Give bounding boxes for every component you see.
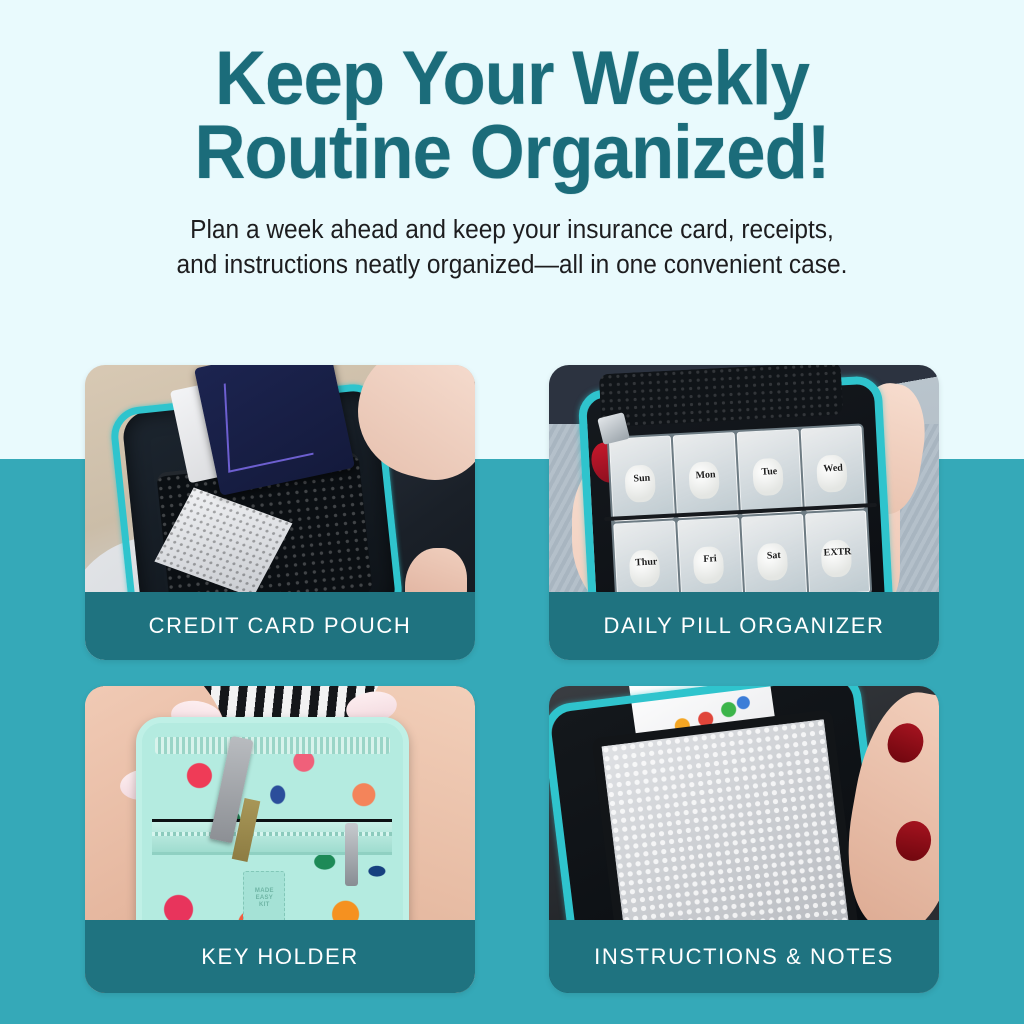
pill-cell-label: Wed: [824, 462, 844, 474]
feature-card-key-holder[interactable]: MADE EASY KIT KEY HOLDER: [85, 686, 475, 993]
brand-patch-line-2: EASY: [256, 895, 274, 901]
pill-cell-wed: Wed: [800, 425, 866, 511]
brand-patch: MADE EASY KIT: [243, 871, 285, 924]
page-subtitle: Plan a week ahead and keep your insuranc…: [20, 191, 1003, 283]
subtitle-line-2: and instructions neatly organized—all in…: [20, 248, 1003, 283]
feature-grid: CREDIT CARD POUCH Sun Mon Tue Wed Thur F…: [85, 365, 939, 993]
pill-cell-label: Sat: [767, 550, 781, 562]
pill-cell-label: EXTR: [824, 546, 852, 558]
brand-patch-line-3: KIT: [259, 902, 270, 908]
brand-patch-line-1: MADE: [255, 888, 274, 894]
caption-key-holder: KEY HOLDER: [85, 920, 475, 993]
feature-card-instructions-and-notes[interactable]: INSTRUCTIONS & NOTES: [549, 686, 939, 993]
pill-cell-tue: Tue: [737, 429, 803, 515]
subtitle-line-1: Plan a week ahead and keep your insuranc…: [20, 213, 1003, 248]
page-title: Keep Your Weekly Routine Organized!: [36, 0, 988, 191]
pill-cell-mon: Mon: [673, 432, 739, 518]
infographic-page: Keep Your Weekly Routine Organized! Plan…: [0, 0, 1024, 1024]
headline-line-2: Routine Organized!: [36, 116, 988, 190]
pill-cell-fri: Fri: [677, 516, 743, 602]
caption-daily-pill-organizer: DAILY PILL ORGANIZER: [549, 592, 939, 660]
header: Keep Your Weekly Routine Organized! Plan…: [0, 0, 1024, 283]
headline-line-1: Keep Your Weekly: [215, 36, 809, 121]
zipper-pull-icon: [345, 823, 358, 885]
pill-cell-sun: Sun: [609, 435, 675, 521]
pill-cell-label: Thur: [635, 557, 658, 569]
caption-instructions-and-notes: INSTRUCTIONS & NOTES: [549, 920, 939, 993]
pill-cell-sat: Sat: [741, 513, 807, 599]
feature-card-daily-pill-organizer[interactable]: Sun Mon Tue Wed Thur Fri Sat EXTR DAILY …: [549, 365, 939, 660]
pill-cell-label: Fri: [703, 553, 717, 565]
pill-cell-label: Sun: [634, 472, 651, 484]
pill-cell-label: Tue: [762, 466, 778, 478]
top-zipper: [155, 737, 390, 754]
feature-card-credit-card-pouch[interactable]: CREDIT CARD POUCH: [85, 365, 475, 660]
pill-cell-extra: EXTR: [805, 510, 871, 596]
caption-credit-card-pouch: CREDIT CARD POUCH: [85, 592, 475, 660]
pill-cell-label: Mon: [696, 469, 717, 481]
